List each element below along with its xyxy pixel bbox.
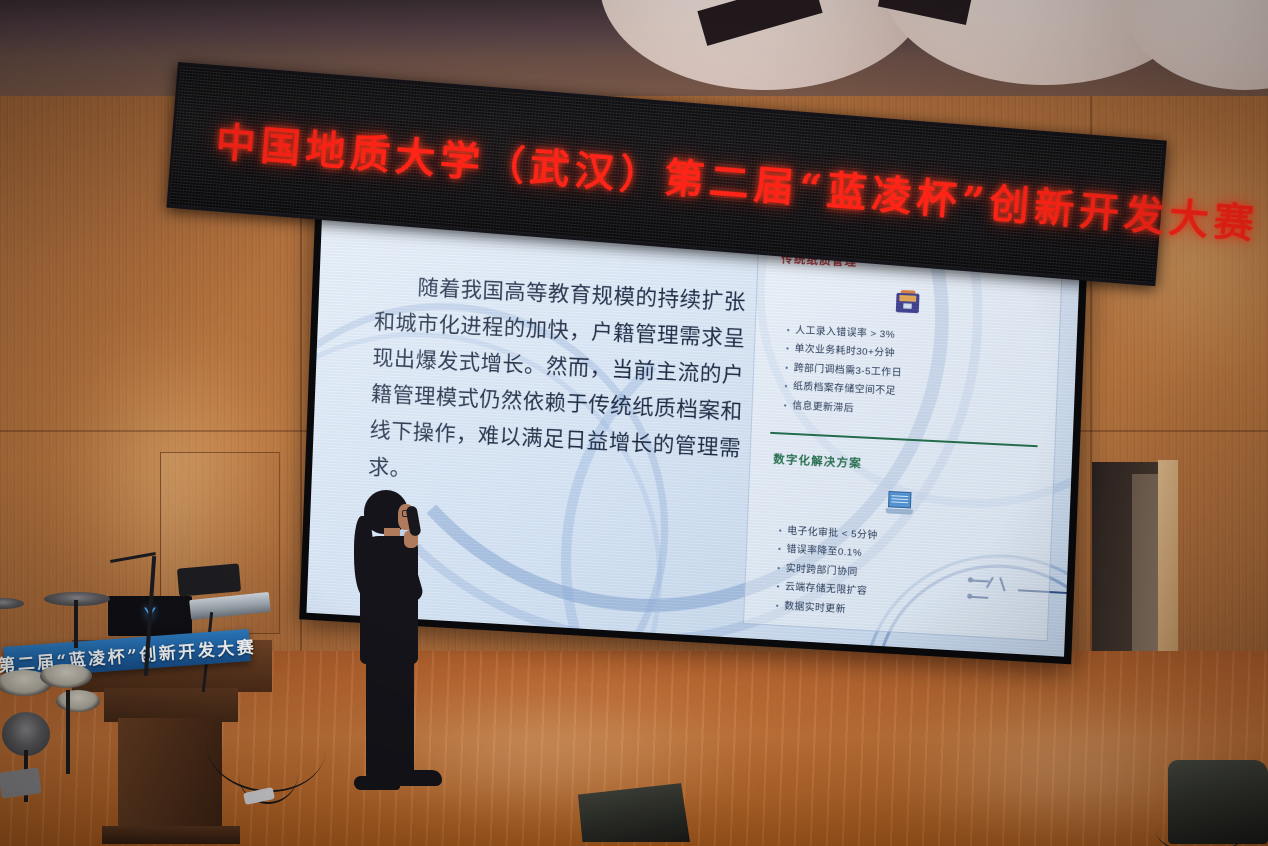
section-digital: 数字化解决方案 •电子化审批 < 5分钟 •错误率降至0.1% •实时跨部门协同 [744,423,1055,640]
comparison-card: 传统纸质管理 •人工录入错误率 > 3% •单次业务耗时30+分钟 •跨部门调档… [743,222,1064,642]
bullet-marker: • [777,563,781,574]
drum-stand-rod [66,690,70,774]
bullet-marker: • [786,344,790,355]
bullet-marker: • [778,526,782,537]
section-heading: 数字化解决方案 [773,450,862,471]
presenter-shoe [394,770,442,786]
drum-pad[interactable] [56,690,100,712]
bullet-item: •信息更新滞后 [784,401,1046,425]
bullet-text: 电子化审批 < 5分钟 [787,526,878,542]
bullet-marker: • [775,601,779,612]
bullet-text: 单次业务耗时30+分钟 [794,345,895,361]
music-stand[interactable] [177,563,241,596]
slide-body-text: 随着我国高等教育规模的持续扩张和城市化进程的加快，户籍管理需求呈现出爆发式增长。… [368,268,755,505]
bullet-marker: • [776,582,780,593]
cable [1156,808,1246,846]
bullet-text: 纸质档案存储空间不足 [793,382,896,398]
bullet-text: 数据实时更新 [784,601,846,616]
drum-pad[interactable] [40,664,92,688]
bullet-text: 跨部门调档需3-5工作日 [793,364,902,380]
bullet-marker: • [778,545,782,556]
bullet-marker: • [784,382,788,393]
bullet-text: 实时跨部门协同 [785,564,857,579]
section-bullets: •人工录入错误率 > 3% •单次业务耗时30+分钟 •跨部门调档需3-5工作日… [783,326,1048,433]
photo-scene: 行业现状与发展趋势 随着我国高等教育规模的持续扩张和城市化进程的加快，户籍管理需… [0,0,1268,846]
bullet-marker: • [785,363,789,374]
paper-folder-icon [896,290,920,314]
drum-pedal[interactable] [0,767,42,798]
presenter-leg [386,656,414,786]
cymbal-stand [74,600,78,648]
presenter [340,488,460,818]
section-rule [770,432,1037,447]
podium-base [102,826,240,844]
section-bullets: •电子化审批 < 5分钟 •错误率降至0.1% •实时跨部门协同 •云端存储无限… [775,526,1040,635]
bullet-text: 错误率降至0.1% [786,545,862,560]
bullet-text: 信息更新滞后 [792,401,854,415]
bullet-marker: • [787,326,791,337]
laptop-icon [886,491,914,515]
bullet-text: 云端存储无限扩容 [785,583,868,599]
bullet-marker: • [784,401,788,412]
bullet-text: 人工录入错误率 > 3% [795,326,895,342]
